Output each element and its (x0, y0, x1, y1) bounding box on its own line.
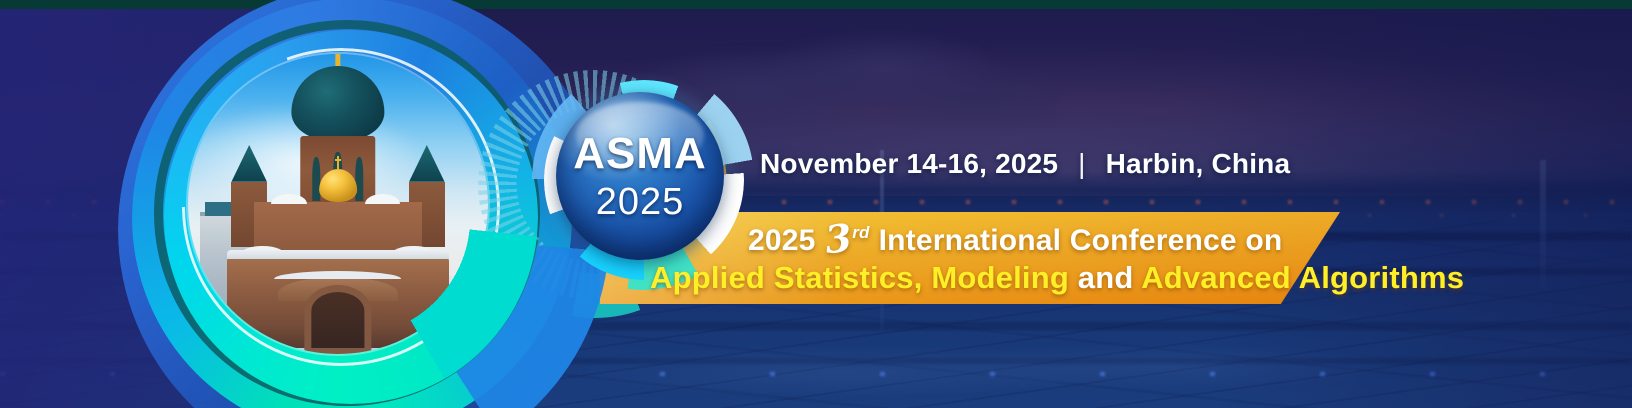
conference-location: Harbin, China (1106, 148, 1291, 179)
conference-banner: ASMA 2025 November 14-16, 2025 | Harbin,… (0, 0, 1632, 408)
logo-year: 2025 (596, 183, 685, 221)
asma-sphere-logo: ASMA 2025 (556, 92, 724, 260)
photo-shading (188, 54, 488, 354)
dateline-separator: | (1078, 148, 1085, 180)
logo-acronym: ASMA (573, 132, 707, 176)
conference-dates: November 14-16, 2025 (760, 148, 1058, 179)
cathedral-photo (188, 54, 488, 354)
logo-text-group: ASMA 2025 (556, 92, 724, 260)
dateline: November 14-16, 2025 | Harbin, China (760, 148, 1290, 180)
